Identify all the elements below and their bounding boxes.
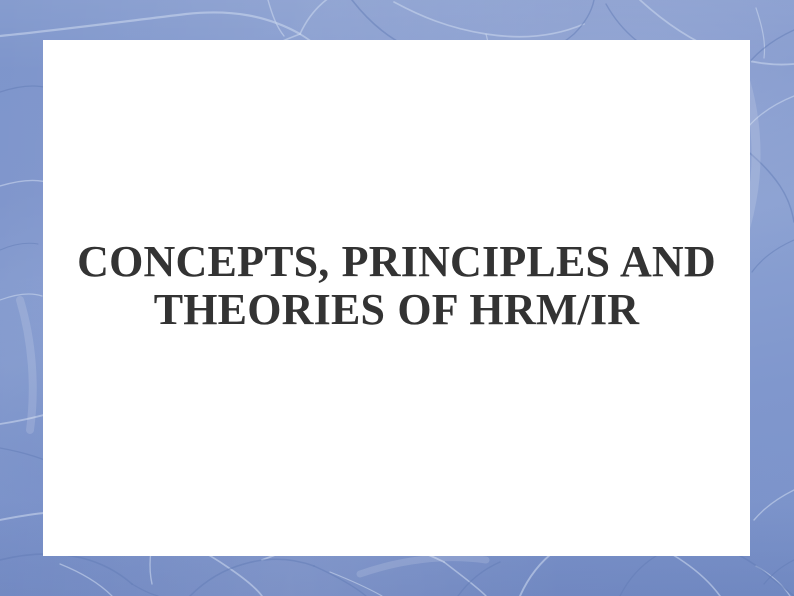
presentation-slide: CONCEPTS, PRINCIPLES AND THEORIES OF HRM… (0, 0, 794, 596)
slide-title: CONCEPTS, PRINCIPLES AND THEORIES OF HRM… (67, 238, 726, 334)
slide-content-card: CONCEPTS, PRINCIPLES AND THEORIES OF HRM… (43, 40, 750, 556)
title-block: CONCEPTS, PRINCIPLES AND THEORIES OF HRM… (43, 238, 750, 334)
